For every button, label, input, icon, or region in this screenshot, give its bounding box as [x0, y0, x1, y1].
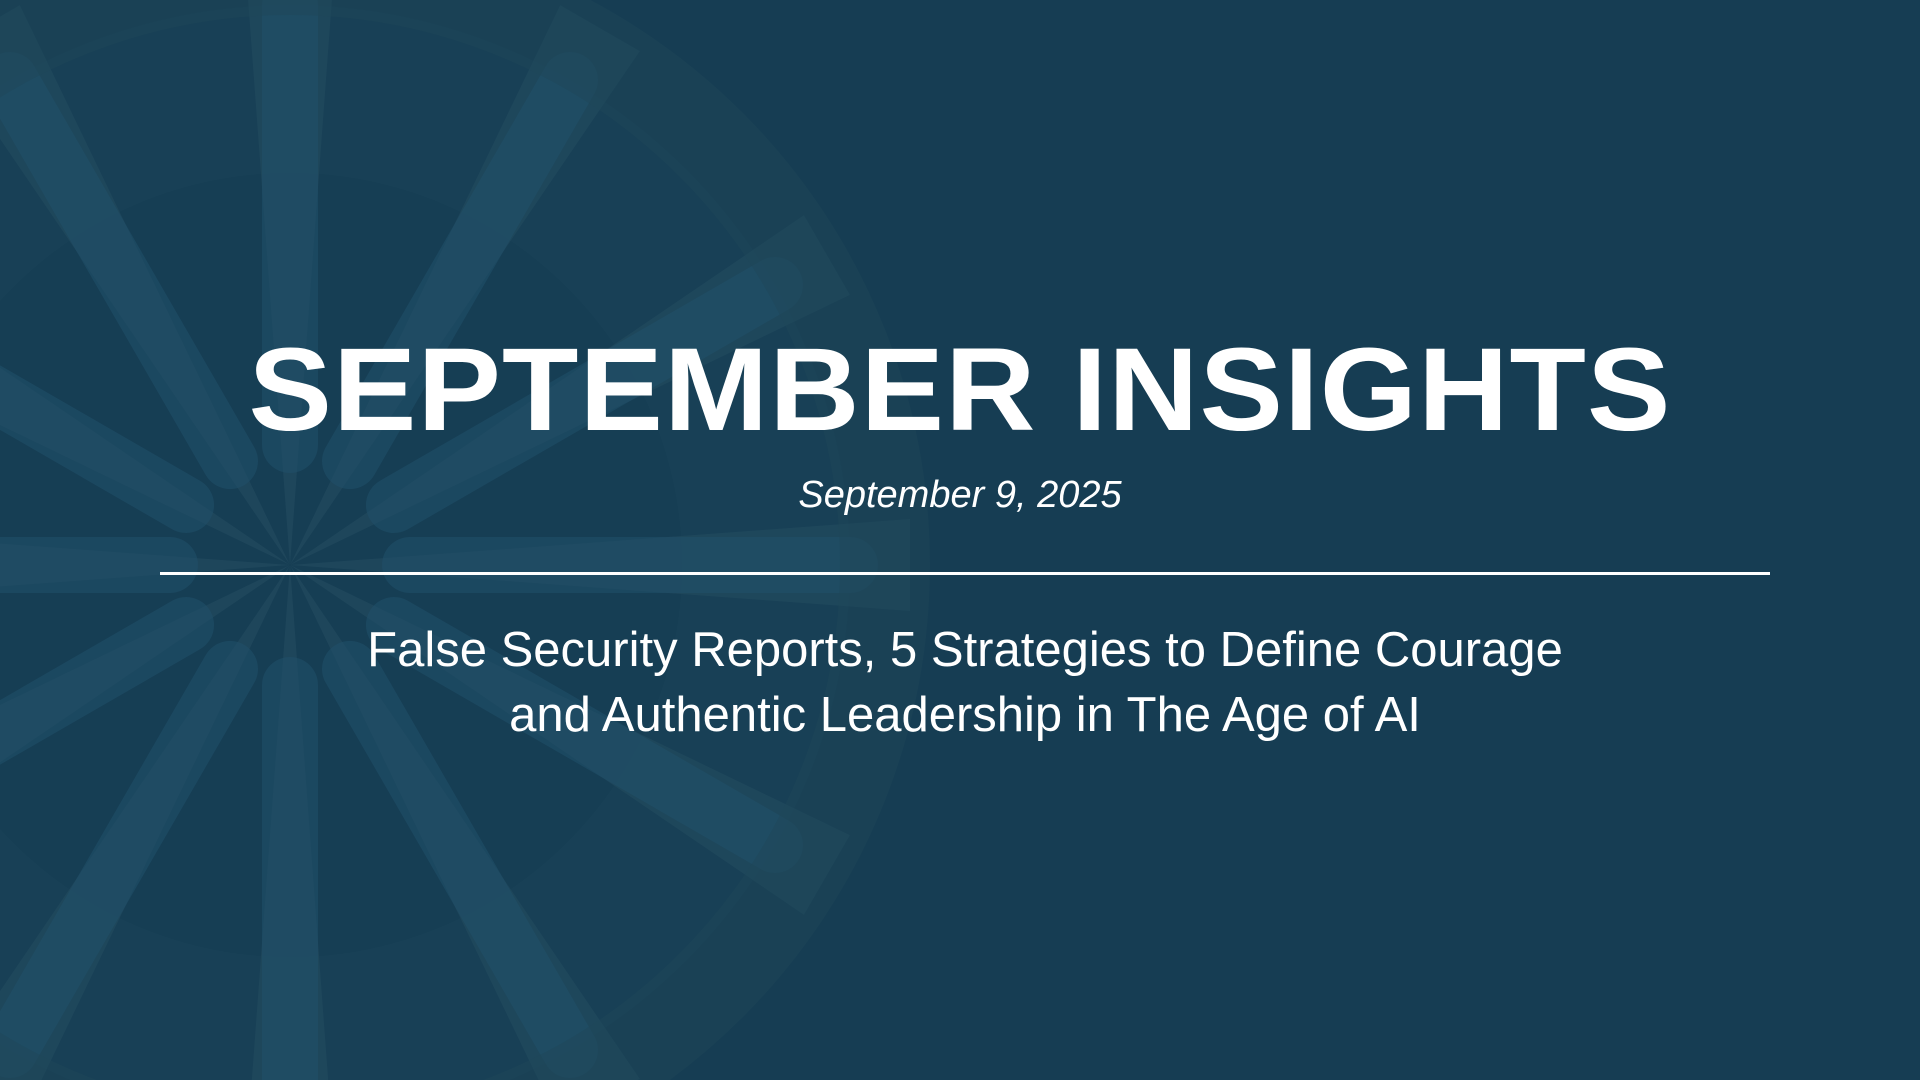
title-slide: SEPTEMBER INSIGHTS September 9, 2025 Fal…: [0, 0, 1920, 1080]
slide-subtitle: False Security Reports, 5 Strategies to …: [160, 618, 1770, 748]
subtitle-line-2: and Authentic Leadership in The Age of A…: [160, 683, 1770, 748]
divider: [160, 572, 1770, 575]
divider-line: [160, 572, 1770, 575]
subtitle-line-1: False Security Reports, 5 Strategies to …: [160, 618, 1770, 683]
slide-date: September 9, 2025: [0, 476, 1920, 514]
page-title: SEPTEMBER INSIGHTS: [0, 331, 1920, 449]
slide-content: SEPTEMBER INSIGHTS September 9, 2025 Fal…: [0, 0, 1920, 1080]
